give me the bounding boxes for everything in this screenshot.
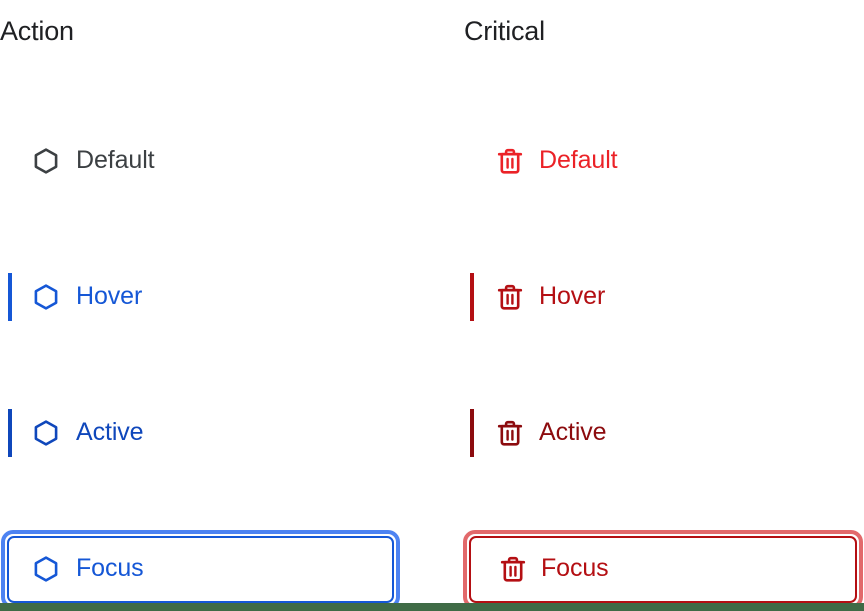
column-header-action: Action xyxy=(0,14,74,48)
trash-icon xyxy=(495,282,525,312)
menu-item-label: Focus xyxy=(541,553,609,583)
selection-indicator-bar xyxy=(470,409,474,457)
bottom-accent-strip xyxy=(0,603,864,611)
menu-states-showcase: Action Critical Default Default xyxy=(0,0,864,611)
menu-item-critical-active[interactable]: Active xyxy=(0,411,432,455)
menu-item-critical-focus[interactable]: Focus xyxy=(0,547,432,591)
trash-icon xyxy=(495,418,525,448)
menu-item-critical-hover[interactable]: Hover xyxy=(0,275,432,319)
column-header-critical: Critical xyxy=(464,14,545,48)
menu-item-label: Active xyxy=(539,417,606,447)
trash-icon xyxy=(498,554,528,584)
menu-item-critical-default[interactable]: Default xyxy=(0,139,432,183)
selection-indicator-bar xyxy=(470,273,474,321)
trash-icon xyxy=(495,146,525,176)
menu-item-label: Default xyxy=(539,145,618,175)
menu-item-label: Hover xyxy=(539,281,605,311)
